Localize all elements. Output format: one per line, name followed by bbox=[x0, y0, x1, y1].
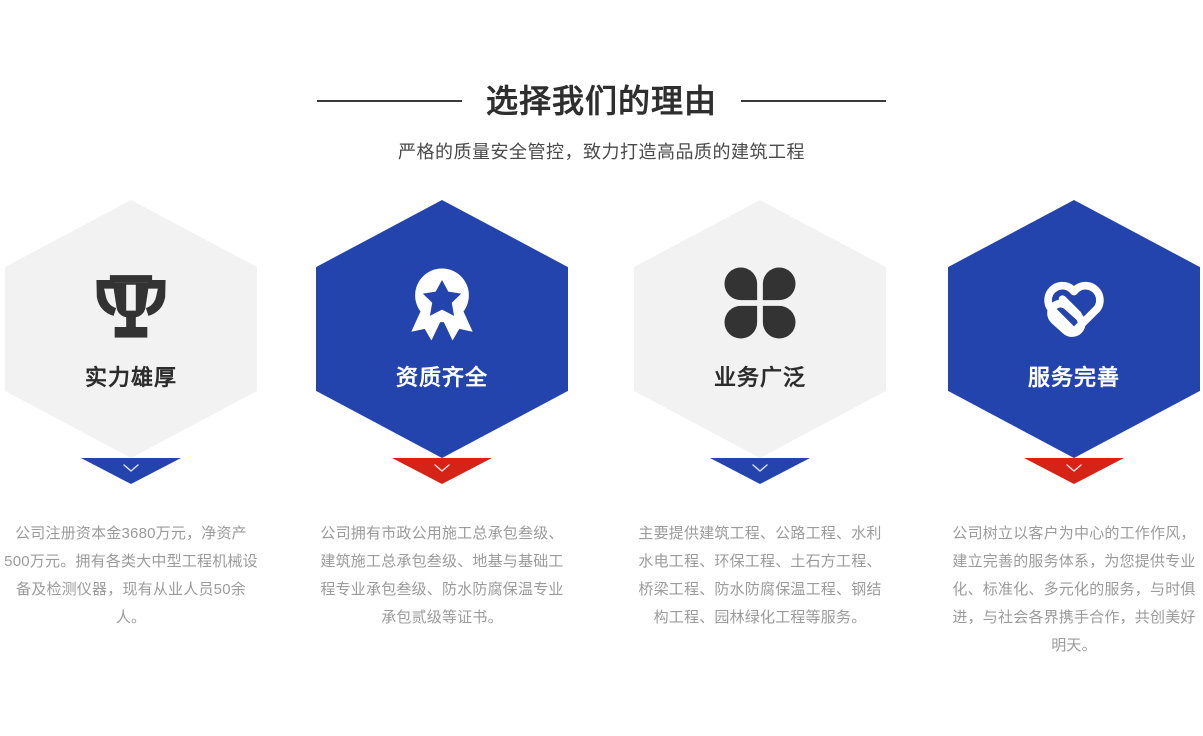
card-title: 业务广泛 bbox=[714, 363, 806, 393]
card-title: 实力雄厚 bbox=[85, 363, 177, 393]
chevron-down-icon bbox=[751, 463, 769, 473]
section-subtitle: 严格的质量安全管控，致力打造高品质的建筑工程 bbox=[0, 138, 1203, 164]
title-row: 选择我们的理由 bbox=[0, 78, 1203, 124]
trophy-icon bbox=[83, 255, 179, 351]
hexagon-panel[interactable]: 业务广泛 bbox=[634, 200, 886, 458]
section-header: 选择我们的理由 严格的质量安全管控，致力打造高品质的建筑工程 bbox=[0, 78, 1203, 164]
feature-card-strength[interactable]: 实力雄厚 公司注册资本金3680万元，净资产500万元。拥有各类大中型工程机械设… bbox=[5, 200, 257, 458]
card-description: 公司注册资本金3680万元，净资产500万元。拥有各类大中型工程机械设备及检测仪… bbox=[3, 520, 259, 632]
hexagon-panel[interactable]: 实力雄厚 bbox=[5, 200, 257, 458]
card-description: 主要提供建筑工程、公路工程、水利水电工程、环保工程、土石方工程、桥梁工程、防水防… bbox=[634, 520, 886, 632]
linked-hearts-icon bbox=[1026, 255, 1122, 351]
page-title: 选择我们的理由 bbox=[486, 78, 717, 124]
chevron-down-icon bbox=[122, 463, 140, 473]
feature-card-business-scope[interactable]: 业务广泛 主要提供建筑工程、公路工程、水利水电工程、环保工程、土石方工程、桥梁工… bbox=[634, 200, 886, 458]
hexagon-panel[interactable]: 服务完善 bbox=[948, 200, 1200, 458]
why-choose-us-section: 选择我们的理由 严格的质量安全管控，致力打造高品质的建筑工程 bbox=[0, 0, 1203, 736]
card-arrow bbox=[710, 458, 810, 484]
card-arrow bbox=[1024, 458, 1124, 484]
feature-card-row: 实力雄厚 公司注册资本金3680万元，净资产500万元。拥有各类大中型工程机械设… bbox=[0, 200, 1203, 670]
title-rule-right bbox=[741, 100, 886, 102]
four-petal-clover-icon bbox=[712, 255, 808, 351]
card-arrow bbox=[392, 458, 492, 484]
feature-card-qualification[interactable]: 资质齐全 公司拥有市政公用施工总承包叁级、建筑施工总承包叁级、地基与基础工程专业… bbox=[316, 200, 568, 458]
card-description: 公司拥有市政公用施工总承包叁级、建筑施工总承包叁级、地基与基础工程专业承包叁级、… bbox=[316, 520, 568, 632]
chevron-down-icon bbox=[1065, 463, 1083, 473]
card-title: 服务完善 bbox=[1028, 363, 1120, 393]
card-description: 公司树立以客户为中心的工作作风，建立完善的服务体系，为您提供专业化、标准化、多元… bbox=[946, 520, 1202, 660]
card-arrow bbox=[81, 458, 181, 484]
hexagon-panel[interactable]: 资质齐全 bbox=[316, 200, 568, 458]
medal-star-icon bbox=[394, 255, 490, 351]
card-title: 资质齐全 bbox=[396, 363, 488, 393]
feature-card-service[interactable]: 服务完善 公司树立以客户为中心的工作作风，建立完善的服务体系，为您提供专业化、标… bbox=[948, 200, 1200, 458]
chevron-down-icon bbox=[433, 463, 451, 473]
title-rule-left bbox=[317, 100, 462, 102]
